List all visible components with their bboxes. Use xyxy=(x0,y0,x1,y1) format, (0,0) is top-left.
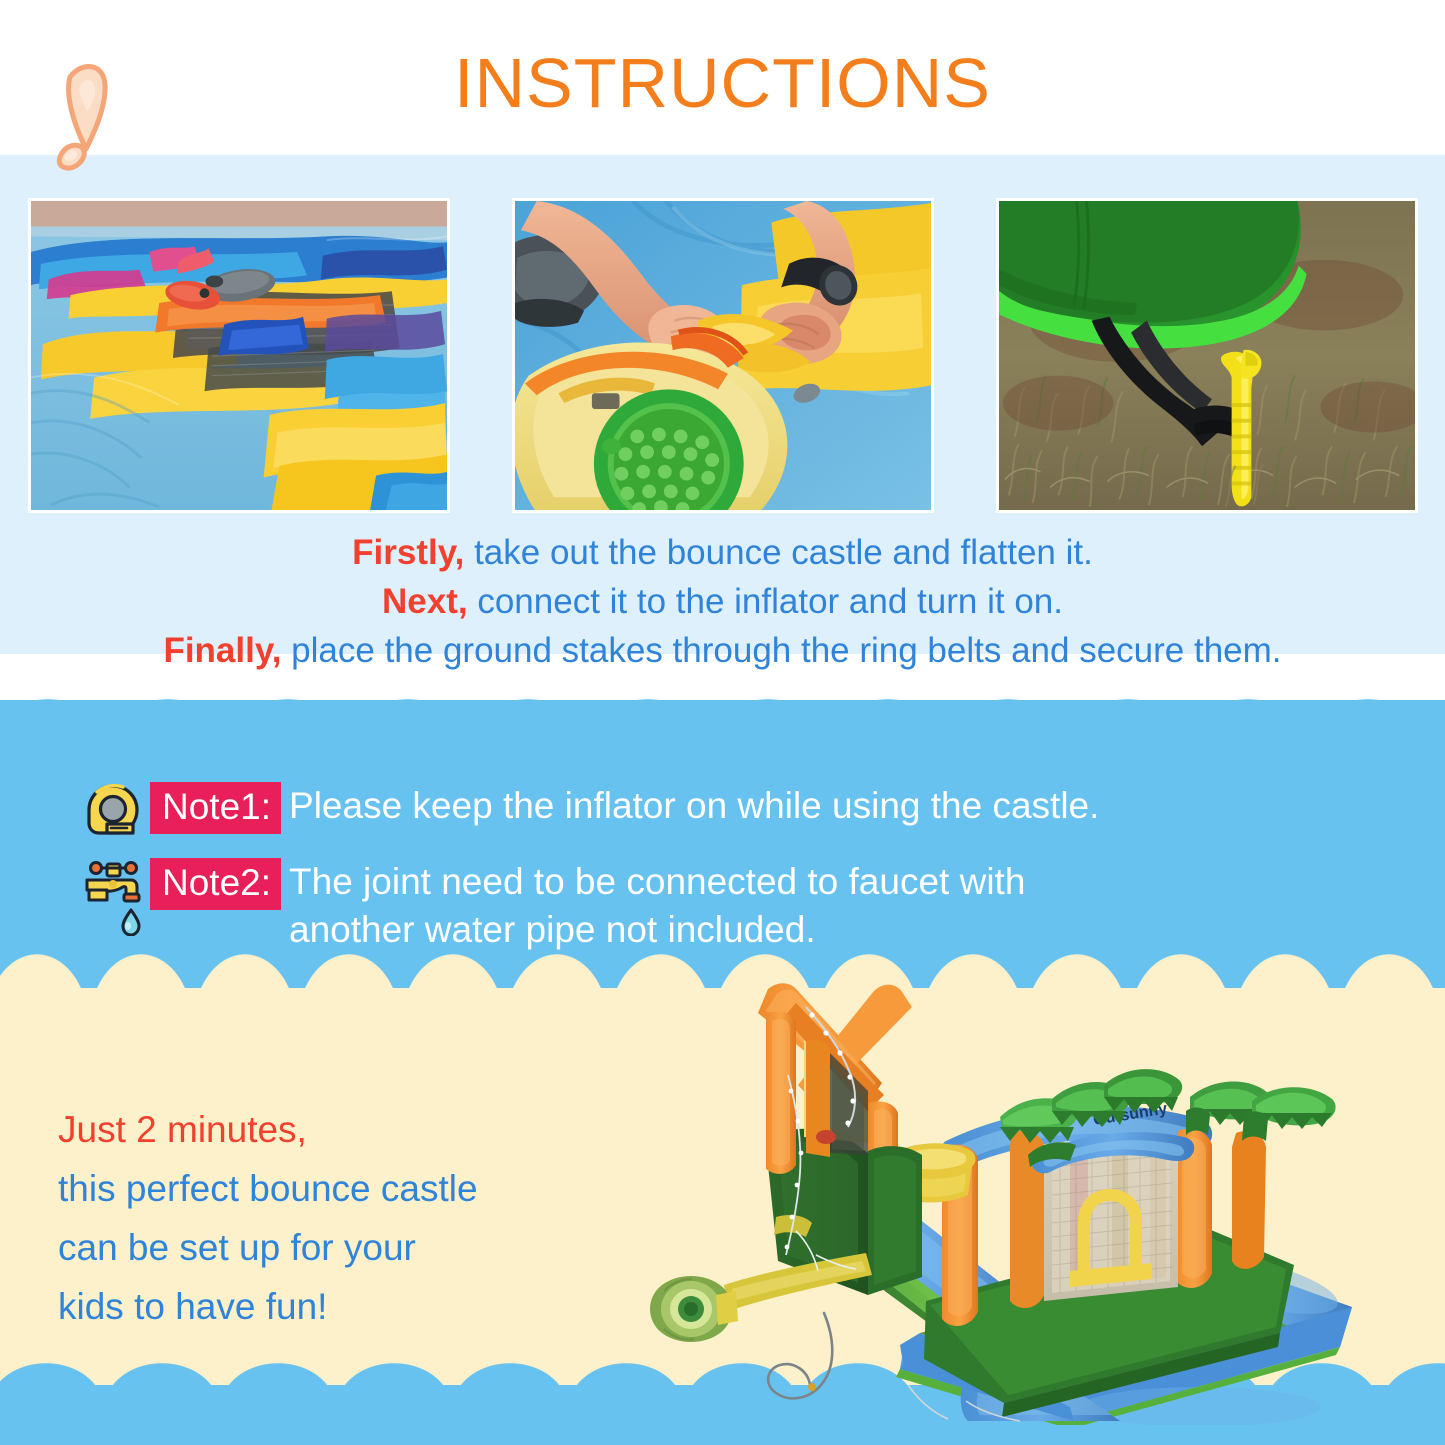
step-line-1: Firstly, take out the bounce castle and … xyxy=(0,528,1445,577)
step-text-3: place the ground stakes through the ring… xyxy=(281,631,1281,670)
step-text-2: connect it to the inflator and turn it o… xyxy=(468,582,1063,621)
note-text-2-line-2: another water pipe not included. xyxy=(289,906,1025,954)
note-badge-2: Note2: xyxy=(150,858,281,910)
promo-body-line-1: this perfect bounce castle xyxy=(58,1159,698,1218)
step-line-2: Next, connect it to the inflator and tur… xyxy=(0,577,1445,626)
step-line-3: Finally, place the ground stakes through… xyxy=(0,626,1445,675)
step-text-1: take out the bounce castle and flatten i… xyxy=(464,533,1092,572)
step-keyword-1: Firstly, xyxy=(352,533,464,572)
photo-flatten-castle xyxy=(28,198,450,513)
photo-ground-stake xyxy=(996,198,1418,513)
step-photo-row xyxy=(0,198,1445,513)
promo-body-line-2: can be set up for your xyxy=(58,1218,698,1277)
notes-list: Note1: Please keep the inflator on while… xyxy=(78,780,1398,968)
instructions-page: INSTRUCTIONS xyxy=(0,0,1445,1445)
page-title: INSTRUCTIONS xyxy=(0,48,1445,118)
note-text-2: The joint need to be connected to faucet… xyxy=(281,858,1025,954)
step-keyword-2: Next, xyxy=(382,582,468,621)
note-row-1: Note1: Please keep the inflator on while… xyxy=(78,780,1398,842)
promo-headline: Just 2 minutes, xyxy=(58,1100,698,1159)
note-badge-1: Note1: xyxy=(150,782,281,834)
faucet-water-drop-icon xyxy=(78,856,150,936)
exclamation-drop-icon xyxy=(52,55,162,175)
promo-body-line-3: kids to have fun! xyxy=(58,1277,698,1336)
step-keyword-3: Finally, xyxy=(163,631,281,670)
promo-copy: Just 2 minutes, this perfect bounce cast… xyxy=(58,1100,698,1336)
product-bounce-castle: Outsunny xyxy=(600,955,1360,1425)
step-instructions: Firstly, take out the bounce castle and … xyxy=(0,528,1445,675)
note-text-1-line-1: Please keep the inflator on while using … xyxy=(289,782,1099,830)
note-text-2-line-1: The joint need to be connected to faucet… xyxy=(289,858,1025,906)
tape-measure-icon xyxy=(78,780,150,842)
note-row-2: Note2: The joint need to be connected to… xyxy=(78,856,1398,954)
notes-top-scallop xyxy=(0,699,1445,745)
note-text-1: Please keep the inflator on while using … xyxy=(281,782,1099,830)
photo-connect-inflator xyxy=(512,198,934,513)
